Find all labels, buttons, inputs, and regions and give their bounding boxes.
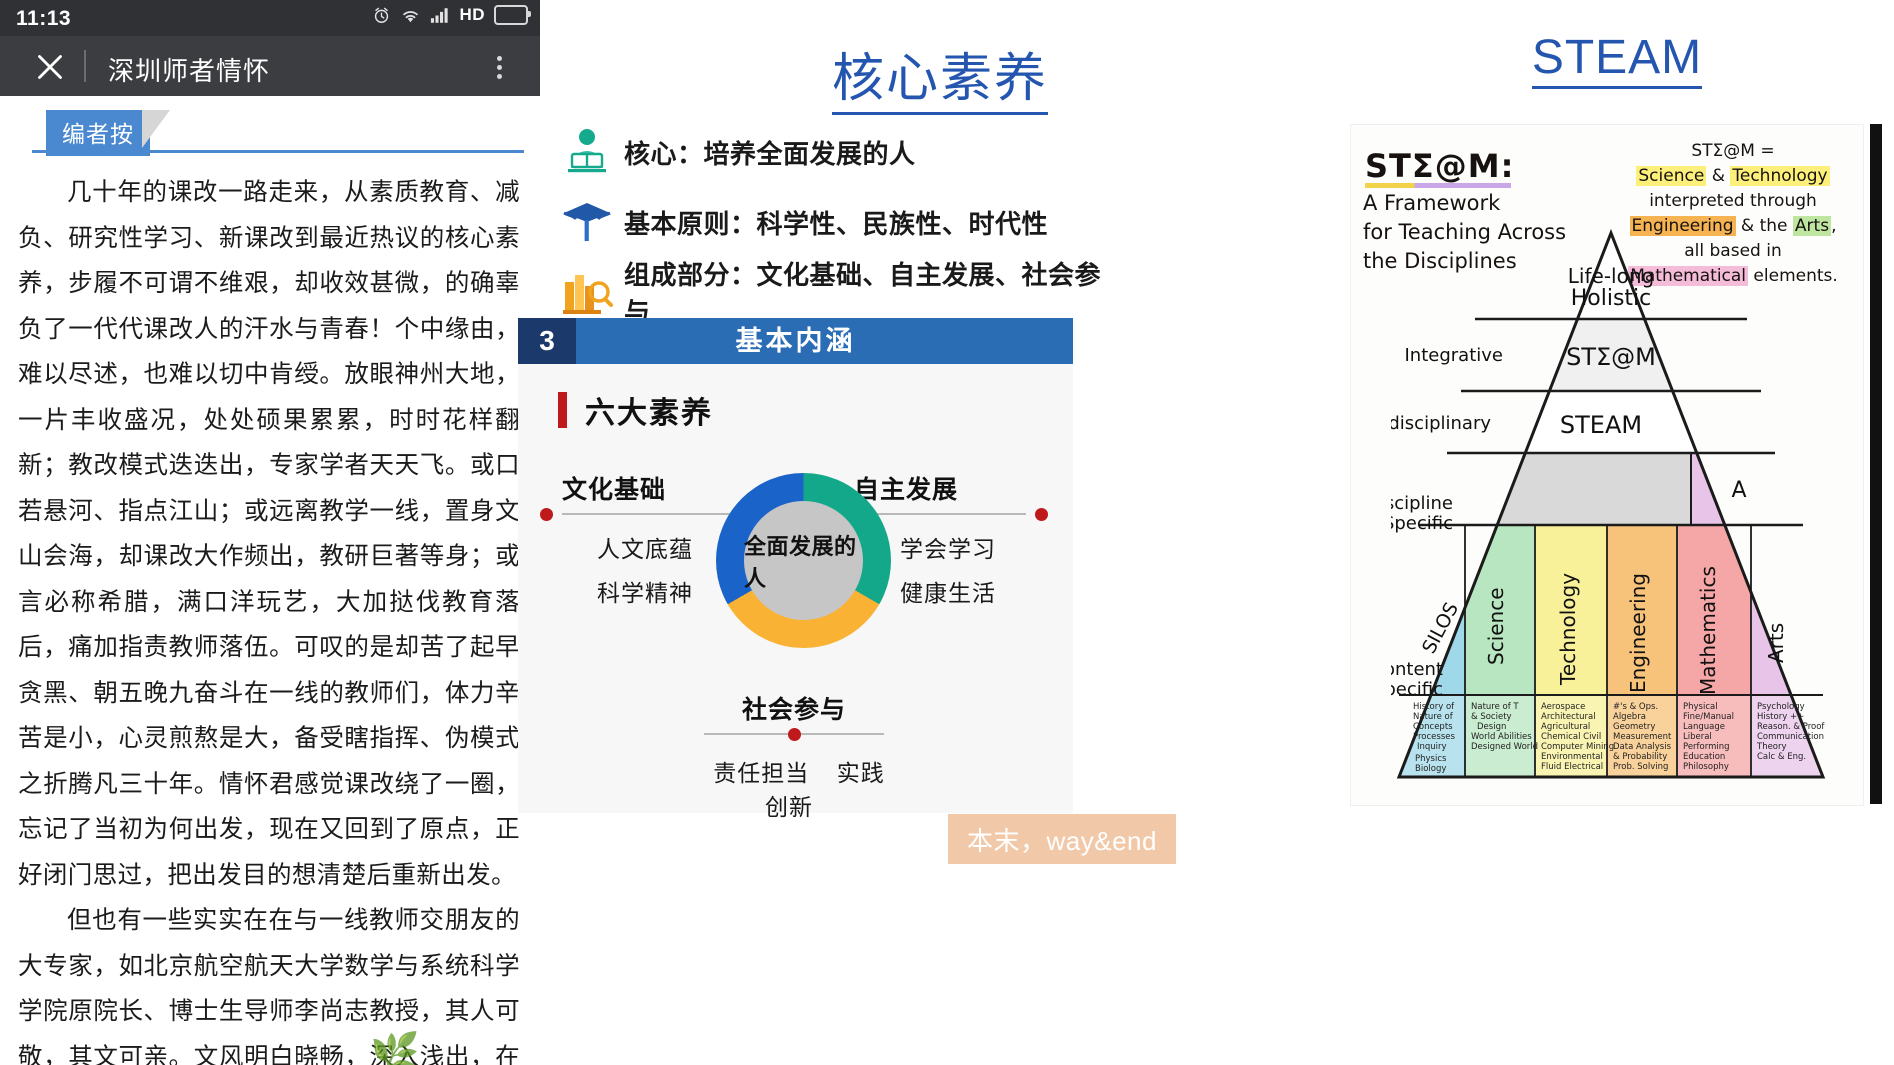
close-icon[interactable] — [36, 53, 64, 81]
legend-line: interpreted through — [1609, 189, 1857, 214]
svg-text:Measurement: Measurement — [1613, 732, 1672, 742]
svg-text:Communication: Communication — [1757, 732, 1824, 742]
svg-text:Performing: Performing — [1683, 742, 1730, 752]
svg-text:STEAM: STEAM — [1560, 411, 1642, 439]
svg-text:Design: Design — [1477, 722, 1506, 732]
svg-text:& Probability: & Probability — [1613, 752, 1667, 762]
screenshot-root: 11:13 HD — [0, 0, 1894, 1065]
article-text: 几十年的课改一路走来，从素质教育、减负、研究性学习、新课改到最近热议的核心素养，… — [14, 170, 526, 1065]
connector-line — [562, 513, 732, 515]
bullet-item-components: 组成部分：文化基础、自主发展、社会参与 — [560, 260, 1120, 324]
article-paragraph: 几十年的课改一路走来，从素质教育、减负、研究性学习、新课改到最近热议的核心素养，… — [18, 170, 520, 898]
bullet-text: 核心：培养全面发展的人 — [624, 134, 916, 171]
svg-text:Life-long: Life-long — [1568, 264, 1654, 288]
svg-text:Fluid Electrical: Fluid Electrical — [1541, 762, 1603, 772]
svg-text:Theory: Theory — [1756, 742, 1787, 752]
competency-donut-chart: 全面发展的人 — [716, 473, 891, 648]
svg-text:Nature of: Nature of — [1413, 712, 1454, 722]
legend-line: STΣ@M = — [1609, 139, 1857, 164]
red-accent-bar — [558, 392, 567, 428]
caption-badge: 本末，way&end — [948, 814, 1176, 864]
donut-center: 全面发展的人 — [744, 501, 863, 620]
books-search-icon — [560, 266, 624, 318]
svg-text:Fine/Manual: Fine/Manual — [1683, 712, 1734, 722]
core-competency-panel: 核心素养 核心：培养全面发展的人 — [540, 0, 1340, 1065]
svg-text:Liberal: Liberal — [1683, 732, 1712, 742]
connector-dot — [1035, 508, 1048, 521]
svg-text:Biology: Biology — [1415, 764, 1446, 774]
svg-text:Psychology: Psychology — [1757, 702, 1805, 712]
svg-text:A: A — [1731, 478, 1746, 503]
svg-text:Data Analysis: Data Analysis — [1613, 742, 1672, 752]
svg-text:Environmental: Environmental — [1541, 752, 1603, 762]
competency-group-social-participation: 社会参与 责任担当 实践创新 — [694, 690, 894, 822]
decorative-twig-icon: 🌿 — [370, 1030, 420, 1065]
svg-text:Physics: Physics — [1415, 754, 1447, 764]
steam-logo-underline — [1365, 183, 1511, 188]
section-band-number: 3 — [518, 318, 576, 364]
svg-text:Holistic: Holistic — [1571, 286, 1652, 311]
editor-note-tag-row: 编者按 — [14, 110, 526, 156]
svg-text:Geometry: Geometry — [1613, 722, 1655, 732]
legend-line: Science & Technology — [1609, 164, 1857, 189]
svg-text:Prob. Solving: Prob. Solving — [1613, 762, 1668, 772]
svg-text:Concepts: Concepts — [1413, 722, 1453, 732]
bullet-text: 基本原则：科学性、民族性、时代性 — [624, 204, 1048, 241]
steam-heading-text: STEAM — [1532, 31, 1702, 89]
svg-text:Architectural: Architectural — [1541, 712, 1596, 722]
group-connector — [694, 728, 894, 740]
section-band: 基本内涵 3 — [518, 318, 1073, 364]
connector-dot — [788, 728, 801, 741]
phone-article-panel: 11:13 HD — [0, 0, 540, 1065]
signal-icon — [430, 7, 450, 24]
svg-text:STΣ@M: STΣ@M — [1566, 343, 1656, 371]
steam-poster-image: STΣ@M: A Framework for Teaching Across t… — [1350, 124, 1864, 806]
group-heading: 自主发展 — [848, 470, 1048, 506]
person-reading-icon — [560, 126, 624, 178]
left-label-integrative: Integrative — [1405, 345, 1504, 366]
svg-text:Computer Mining: Computer Mining — [1541, 742, 1614, 752]
article-paragraph: 但也有一些实实在在与一线教师交朋友的大专家，如北京航空航天大学数学与系统科学学院… — [18, 898, 520, 1065]
steam-heading: STEAM — [1340, 30, 1894, 85]
group-connector — [540, 508, 740, 520]
phone-app-bar: 深圳师者情怀 — [0, 36, 540, 96]
left-label-discipline: Discipline — [1391, 493, 1453, 514]
section-band-title: 基本内涵 — [518, 318, 1073, 364]
svg-text:Aerospace: Aerospace — [1541, 702, 1585, 712]
legend-highlight-technology: Technology — [1730, 166, 1829, 186]
svg-text:Processes: Processes — [1413, 732, 1455, 742]
svg-text:Chemical Civil: Chemical Civil — [1541, 732, 1601, 742]
group-item-row: 责任担当 实践创新 — [694, 754, 894, 822]
bullet-item-core: 核心：培养全面发展的人 — [560, 120, 1120, 184]
battery-icon — [494, 5, 528, 25]
svg-text:Language: Language — [1683, 722, 1725, 732]
bullet-item-principle: 基本原则：科学性、民族性、时代性 — [560, 190, 1120, 254]
svg-text:History of: History of — [1413, 702, 1455, 712]
appbar-divider — [84, 50, 86, 82]
competency-group-culture: 文化基础 人文底蕴 科学精神 — [540, 470, 740, 608]
left-label-specific: Specific — [1391, 513, 1453, 534]
group-item: 人文底蕴 — [540, 530, 740, 564]
group-item: 责任担当 — [713, 760, 809, 786]
svg-text:Agricultural: Agricultural — [1541, 722, 1590, 732]
steam-subtitle-line: A Framework — [1363, 189, 1593, 218]
article-body-container: 编者按 几十年的课改一路走来，从素质教育、减负、研究性学习、新课改到最近热议的核… — [0, 110, 540, 1065]
six-competencies-title: 六大素养 — [558, 388, 713, 432]
alarm-icon — [372, 6, 391, 25]
left-label-multidisciplinary: Multidisciplinary — [1391, 413, 1491, 434]
svg-text:Arts: Arts — [1764, 623, 1788, 663]
svg-text:Philosophy: Philosophy — [1683, 762, 1729, 772]
group-item: 科学精神 — [540, 574, 740, 608]
core-competency-heading-text: 核心素养 — [832, 51, 1048, 115]
svg-text:World Abilities: World Abilities — [1471, 732, 1532, 742]
phone-status-bar: 11:13 HD — [0, 0, 540, 36]
caption-text: 本末，way&end — [967, 821, 1157, 858]
six-competencies-label: 六大素养 — [585, 388, 713, 432]
steam-panel: STEAM STΣ@M: A Framework for Teaching Ac… — [1340, 0, 1894, 1065]
graduation-cap-icon — [560, 196, 624, 248]
steam-pyramid-diagram: Life-long Holistic STΣ@M STEAM A SILOS S… — [1391, 225, 1831, 785]
svg-text:Engineering: Engineering — [1626, 573, 1650, 693]
donut-center-label: 全面发展的人 — [744, 529, 863, 593]
svg-text:Calc & Eng.: Calc & Eng. — [1757, 752, 1806, 762]
svg-text:Algebra: Algebra — [1613, 712, 1646, 722]
svg-text:Mathematics: Mathematics — [1696, 566, 1720, 695]
left-label-content-specific: Specific — [1391, 679, 1443, 700]
tag-tail-shape — [142, 110, 170, 148]
svg-text:& Society: & Society — [1471, 712, 1512, 722]
status-time: 11:13 — [16, 7, 71, 31]
article-title: 深圳师者情怀 — [108, 51, 270, 88]
right-edge-bar — [1870, 124, 1882, 804]
status-icon-group: HD — [372, 5, 528, 25]
svg-text:Education: Education — [1683, 752, 1725, 762]
svg-text:Inquiry: Inquiry — [1417, 742, 1447, 752]
legend-highlight-science: Science — [1636, 166, 1706, 186]
basic-connotation-card: 基本内涵 3 六大素养 文化基础 人文底蕴 科学精神 自主发展 — [518, 318, 1073, 813]
svg-text:Nature of T: Nature of T — [1471, 702, 1519, 712]
steam-logo-text: STΣ@M: — [1365, 147, 1514, 185]
network-label: HD — [459, 5, 485, 25]
svg-text:Designed World: Designed World — [1471, 742, 1538, 752]
group-heading: 文化基础 — [540, 470, 740, 506]
core-competency-heading: 核心素养 — [540, 36, 1340, 111]
svg-text:History ++: History ++ — [1757, 712, 1804, 722]
svg-text:Technology: Technology — [1556, 573, 1580, 686]
connector-dot — [540, 508, 553, 521]
wifi-icon — [400, 7, 421, 24]
connector-line — [854, 513, 1026, 515]
svg-text:Reason. & Proof: Reason. & Proof — [1757, 722, 1825, 732]
group-heading: 社会参与 — [694, 690, 894, 726]
left-label-content: Content — [1391, 659, 1443, 680]
svg-text:Physical: Physical — [1683, 702, 1718, 712]
tag-underline-rule — [32, 150, 524, 153]
core-competency-bullet-list: 核心：培养全面发展的人 基本原则：科学性、民族性、时代性 — [560, 120, 1120, 330]
svg-text:#'s & Ops.: #'s & Ops. — [1613, 702, 1658, 712]
svg-text:Science: Science — [1484, 587, 1508, 665]
more-options-icon[interactable] — [497, 56, 502, 79]
